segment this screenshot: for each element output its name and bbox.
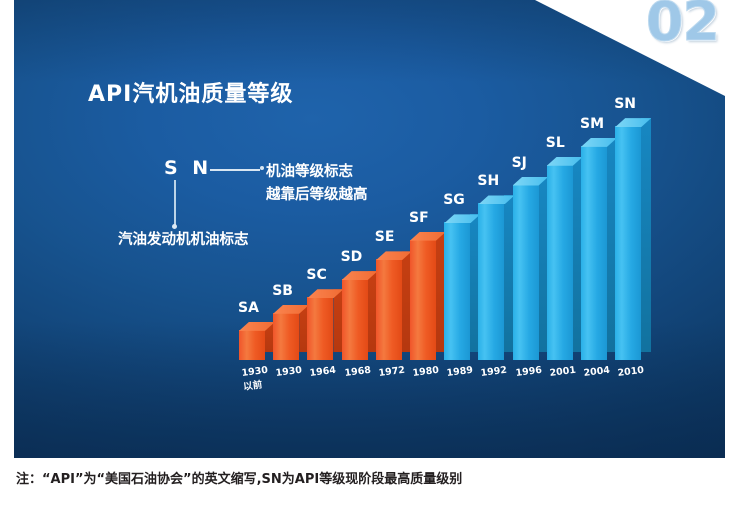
callout-note-bottom: 汽油发动机机油标志: [118, 228, 249, 249]
leader-line-horizontal: [210, 169, 260, 171]
leader-dot-right: [260, 166, 264, 170]
leader-line-vertical: [174, 180, 176, 225]
slide-panel: SA1930以前SB1930SC1964SD1968SE1972SF1980SG…: [14, 0, 725, 458]
section-number-badge: 02: [646, 0, 719, 53]
callout-note-line2: 越靠后等级越高: [266, 183, 368, 204]
callout-note-line1: 机油等级标志: [266, 160, 353, 181]
footer-note: 注：“API”为“美国石油协会”的英文缩写,SN为API等级现阶段最高质量级别: [16, 468, 462, 487]
sn-code-label: S N: [164, 157, 212, 179]
corner-ribbon: 02: [535, 0, 725, 96]
